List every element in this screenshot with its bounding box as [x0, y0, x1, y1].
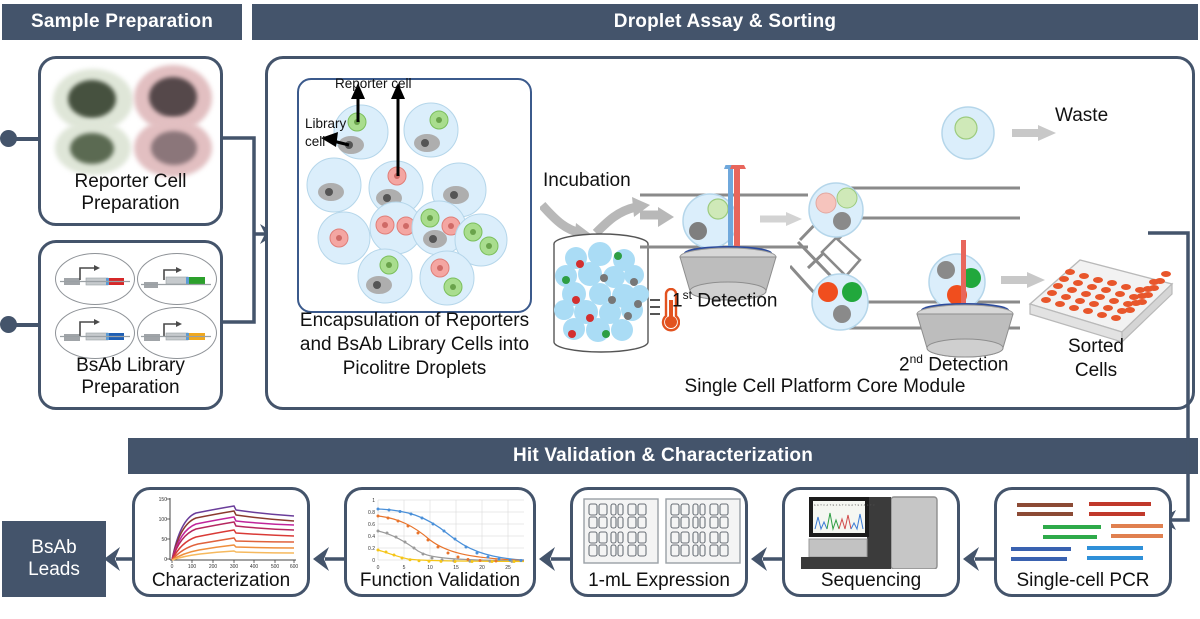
arrow-sequencing [963, 543, 997, 575]
section-header-sample-preparation: Sample Preparation [2, 4, 242, 40]
sequencer-icon: A G T C A T G C A T C G A T G C A G T C [795, 495, 953, 569]
reporter-cell-3-nucleus [70, 133, 114, 164]
svg-text:0.4: 0.4 [368, 534, 375, 540]
svg-text:0.8: 0.8 [368, 510, 375, 516]
library-cell-annotation-line2: cell [305, 134, 325, 149]
bsab-library-preparation-label-line2: Preparation [41, 377, 220, 398]
svg-text:0.2: 0.2 [368, 546, 375, 552]
one-ml-expression-label: 1-mL Expression [573, 570, 745, 591]
svg-text:100: 100 [159, 517, 168, 523]
section-header-hit-validation: Hit Validation & Characterization [128, 438, 1198, 474]
svg-text:50: 50 [161, 537, 167, 543]
library-cell-annotation-line1: Library [305, 116, 346, 131]
arrow-characterization [313, 543, 347, 575]
plasmid-4 [137, 307, 217, 359]
single-cell-pcr-box[interactable]: Single-cell PCR [994, 487, 1172, 597]
reporter-cell-2-nucleus [149, 77, 197, 117]
characterization-label: Characterization [135, 570, 307, 591]
svg-text:0.6: 0.6 [368, 522, 375, 528]
detection-1-ordinal: st [683, 288, 692, 302]
hit-validation-header-label: Hit Validation & Characterization [513, 445, 813, 467]
plasmid-1-icon [56, 254, 134, 304]
bsab-leads-line1: BsAb [31, 537, 76, 559]
reporter-cell-4-nucleus [151, 131, 197, 165]
bsab-library-preparation-label-line1: BsAb Library [41, 355, 220, 376]
droplet-assay-header-label: Droplet Assay & Sorting [614, 11, 836, 33]
svg-text:0: 0 [164, 557, 167, 563]
sorted-cells-label-line2: Cells [1048, 360, 1144, 382]
arrow-function-validation [539, 543, 573, 575]
section-header-droplet-assay: Droplet Assay & Sorting [252, 4, 1198, 40]
plasmid-2-icon [138, 254, 216, 304]
encapsulation-caption-line3: Picolitre Droplets [272, 358, 557, 379]
core-module-caption: Single Cell Platform Core Module [600, 376, 1050, 398]
encapsulation-caption-line1: Encapsulation of Reporters [272, 310, 557, 331]
svg-text:0: 0 [372, 558, 375, 564]
encapsulation-panel[interactable]: Reporter cell Library cell [297, 78, 532, 313]
sample-preparation-header-label: Sample Preparation [31, 11, 213, 33]
detection-2-label: 2nd Detection [899, 352, 1008, 376]
one-ml-expression-box[interactable]: 1-mL Expression [570, 487, 748, 597]
detection-2-ordinal: nd [910, 352, 923, 366]
plasmid-3 [55, 307, 135, 359]
svg-text:A G T C A T G C A T C G A T G: A G T C A T G C A T C G A T G C A G T C [814, 504, 875, 507]
detection-1-rest: Detection [692, 290, 778, 311]
plasmid-2 [137, 253, 217, 305]
reporter-cell-preparation-label-line2: Preparation [41, 193, 220, 214]
waste-label: Waste [1055, 105, 1108, 127]
reporter-cell-preparation-box[interactable]: Reporter Cell Preparation [38, 56, 223, 226]
incubation-label: Incubation [543, 170, 631, 192]
plasmid-3-icon [56, 308, 134, 358]
sequencing-label: Sequencing [785, 570, 957, 591]
sequencing-box[interactable]: A G T C A T G C A T C G A T G C A G T C … [782, 487, 960, 597]
sorted-cells-label-line1: Sorted [1048, 336, 1144, 358]
droplet-cluster-diagram [299, 80, 530, 311]
characterization-box[interactable]: 150100 500 0100200 300400500 600 [132, 487, 310, 597]
detection-2-rest: Detection [923, 354, 1009, 375]
deepwell-plates-icon [582, 497, 742, 569]
pcr-gel-bands-icon [1005, 495, 1165, 569]
single-cell-pcr-label: Single-cell PCR [997, 570, 1169, 591]
function-validation-box[interactable]: 10.80.6 0.40.20 0510 152025 Function Val… [344, 487, 536, 597]
plasmid-1 [55, 253, 135, 305]
bsab-library-preparation-box[interactable]: BsAb Library Preparation [38, 240, 223, 410]
reporter-cell-annotation-label: Reporter cell [335, 76, 412, 91]
detection-2-number: 2 [899, 354, 910, 375]
plasmid-4-icon [138, 308, 216, 358]
function-validation-dose-response-chart: 10.80.6 0.40.20 0510 152025 [356, 494, 528, 572]
arrow-one-ml-expression [751, 543, 785, 575]
function-validation-label: Function Validation [347, 570, 533, 591]
encapsulation-caption-line2: and BsAb Library Cells into [272, 334, 557, 355]
reporter-cell-1-nucleus [68, 80, 116, 118]
svg-text:1: 1 [372, 498, 375, 504]
reporter-cell-preparation-label-line1: Reporter Cell [41, 171, 220, 192]
characterization-sensorgram-chart: 150100 500 0100200 300400500 600 [144, 494, 304, 572]
detection-1-label: 1st Detection [672, 288, 777, 312]
svg-text:150: 150 [159, 497, 168, 503]
bsab-leads-line2: Leads [28, 559, 80, 581]
bsab-leads-box[interactable]: BsAb Leads [2, 521, 106, 597]
detection-1-number: 1 [672, 290, 683, 311]
